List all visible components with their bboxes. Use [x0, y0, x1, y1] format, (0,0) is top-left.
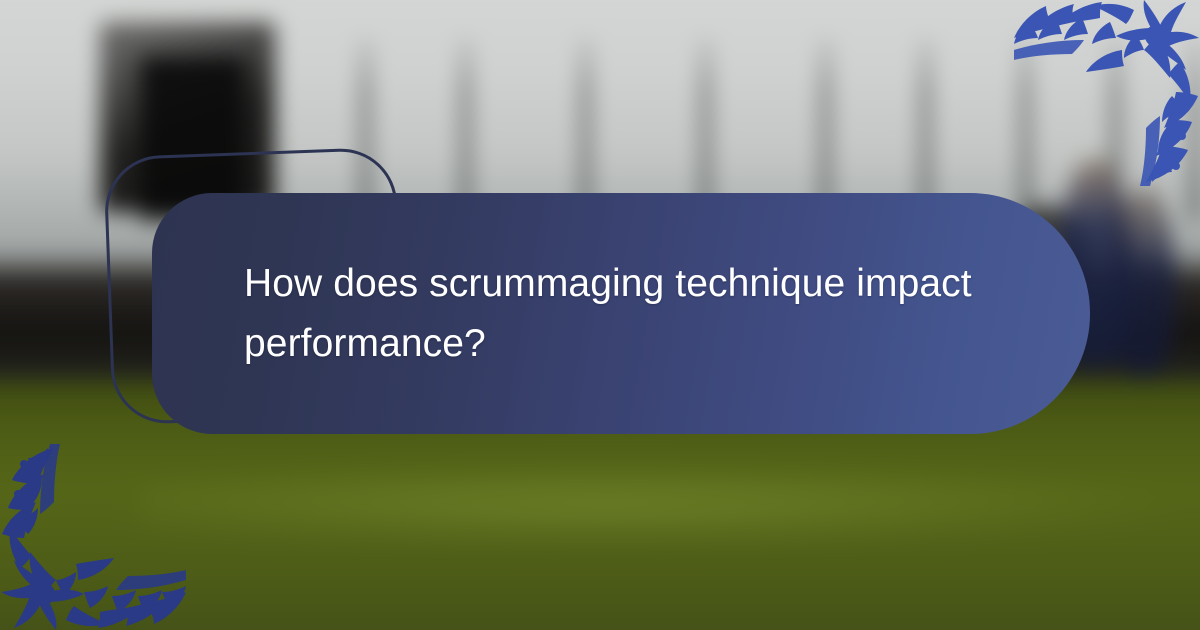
fence-post: [580, 38, 591, 218]
question-card: How does scrummaging technique impact pe…: [152, 193, 1090, 434]
background-player-silhouette: [1110, 188, 1176, 378]
fence-post: [1020, 38, 1031, 218]
fence-post: [920, 38, 931, 218]
fence-post: [700, 38, 711, 218]
question-text: How does scrummaging technique impact pe…: [244, 254, 974, 373]
fence-post: [460, 38, 471, 218]
social-card-canvas: How does scrummaging technique impact pe…: [0, 0, 1200, 630]
background-grass-highlight: [140, 460, 1180, 550]
fence-post: [820, 38, 831, 218]
fence-post: [1190, 38, 1200, 218]
